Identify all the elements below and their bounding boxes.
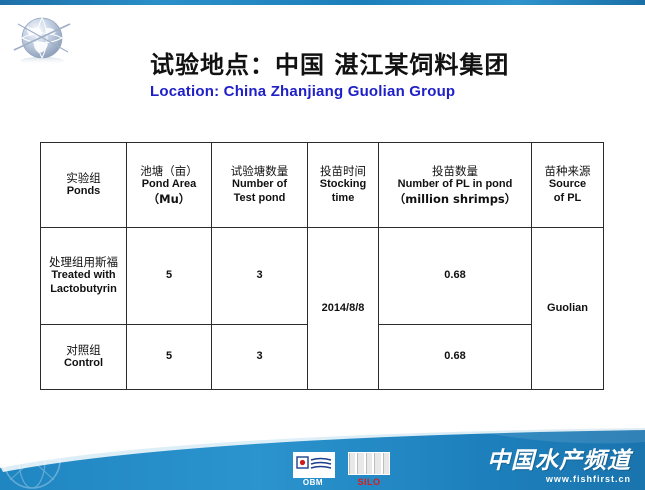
obm-logo-icon: OBM	[290, 452, 336, 486]
table-header-row: 实验组 Ponds 池塘（亩） Pond Area （Mu） 试验塘数量 Num…	[41, 143, 604, 228]
top-accent-strip	[0, 0, 645, 5]
experiment-table-wrapper: 实验组 Ponds 池塘（亩） Pond Area （Mu） 试验塘数量 Num…	[40, 142, 603, 387]
col-header-source-en2: of PL	[535, 192, 600, 206]
slide-canvas: 试验地点：中国 湛江某饲料集团 Location: China Zhanjian…	[0, 0, 645, 490]
brand-name-cn: 中国水产频道	[487, 450, 631, 473]
cell-pl-number-treated: 0.68	[379, 228, 532, 325]
site-brand: 中国水产频道 www.fishfirst.cn	[487, 450, 631, 484]
footer-band: OBM SILO 中国水产频道 www.fishfirst.cn	[0, 428, 645, 490]
cell-source: Guolian	[532, 228, 604, 390]
col-header-pl-number-en: Number of PL in pond	[382, 178, 528, 192]
cell-group-treated-cn: 处理组用斯福	[44, 255, 123, 269]
col-header-pl-number-cn: 投苗数量	[382, 164, 528, 178]
partner-logos: OBM SILO	[290, 450, 392, 486]
col-header-test-pond-cn: 试验塘数量	[215, 164, 304, 178]
cell-pl-number-control: 0.68	[379, 325, 532, 390]
col-header-pl-number: 投苗数量 Number of PL in pond （million shrim…	[379, 143, 532, 228]
col-header-stocking-time: 投苗时间 Stocking time	[308, 143, 379, 228]
cell-group-control-en: Control	[44, 357, 123, 371]
cell-pond-area-control: 5	[127, 325, 212, 390]
cell-group-treated: 处理组用斯福 Treated with Lactobutyrin	[41, 228, 127, 325]
page-title-en: Location: China Zhanjiang Guolian Group	[150, 83, 610, 100]
col-header-ponds-en: Ponds	[44, 185, 123, 199]
cell-group-treated-en: Treated with Lactobutyrin	[44, 269, 123, 297]
col-header-test-pond-en1: Number of	[215, 178, 304, 192]
col-header-test-pond-en2: Test pond	[215, 192, 304, 206]
title-block: 试验地点：中国 湛江某饲料集团 Location: China Zhanjian…	[150, 52, 610, 100]
globe-icon	[8, 10, 78, 66]
cell-group-control-cn: 对照组	[44, 343, 123, 357]
col-header-pond-area-en: Pond Area	[130, 178, 208, 192]
cell-pond-area-treated: 5	[127, 228, 212, 325]
table-row: 处理组用斯福 Treated with Lactobutyrin 5 3 201…	[41, 228, 604, 325]
col-header-pond-area: 池塘（亩） Pond Area （Mu）	[127, 143, 212, 228]
col-header-pl-number-unit: （million shrimps）	[382, 192, 528, 206]
experiment-table: 实验组 Ponds 池塘（亩） Pond Area （Mu） 试验塘数量 Num…	[40, 142, 604, 390]
cell-stocking-time: 2014/8/8	[308, 228, 379, 390]
col-header-ponds: 实验组 Ponds	[41, 143, 127, 228]
col-header-stocking-time-en1: Stocking	[311, 178, 375, 192]
brand-globe-icon	[0, 428, 64, 490]
cell-group-control: 对照组 Control	[41, 325, 127, 390]
col-header-stocking-time-en2: time	[311, 192, 375, 206]
brand-url: www.fishfirst.cn	[487, 475, 631, 484]
col-header-test-pond: 试验塘数量 Number of Test pond	[212, 143, 308, 228]
silo-logo-text: SILO	[346, 477, 392, 487]
silo-logo-icon: SILO	[346, 452, 392, 486]
page-title-cn: 试验地点：中国 湛江某饲料集团	[150, 52, 610, 80]
col-header-source: 苗种来源 Source of PL	[532, 143, 604, 228]
col-header-ponds-cn: 实验组	[44, 171, 123, 185]
col-header-stocking-time-cn: 投苗时间	[311, 164, 375, 178]
cell-test-pond-control: 3	[212, 325, 308, 390]
col-header-pond-area-cn: 池塘（亩）	[130, 164, 208, 178]
col-header-pond-area-unit: （Mu）	[130, 192, 208, 206]
obm-logo-text: OBM	[290, 478, 336, 487]
col-header-source-cn: 苗种来源	[535, 164, 600, 178]
cell-test-pond-treated: 3	[212, 228, 308, 325]
col-header-source-en1: Source	[535, 178, 600, 192]
